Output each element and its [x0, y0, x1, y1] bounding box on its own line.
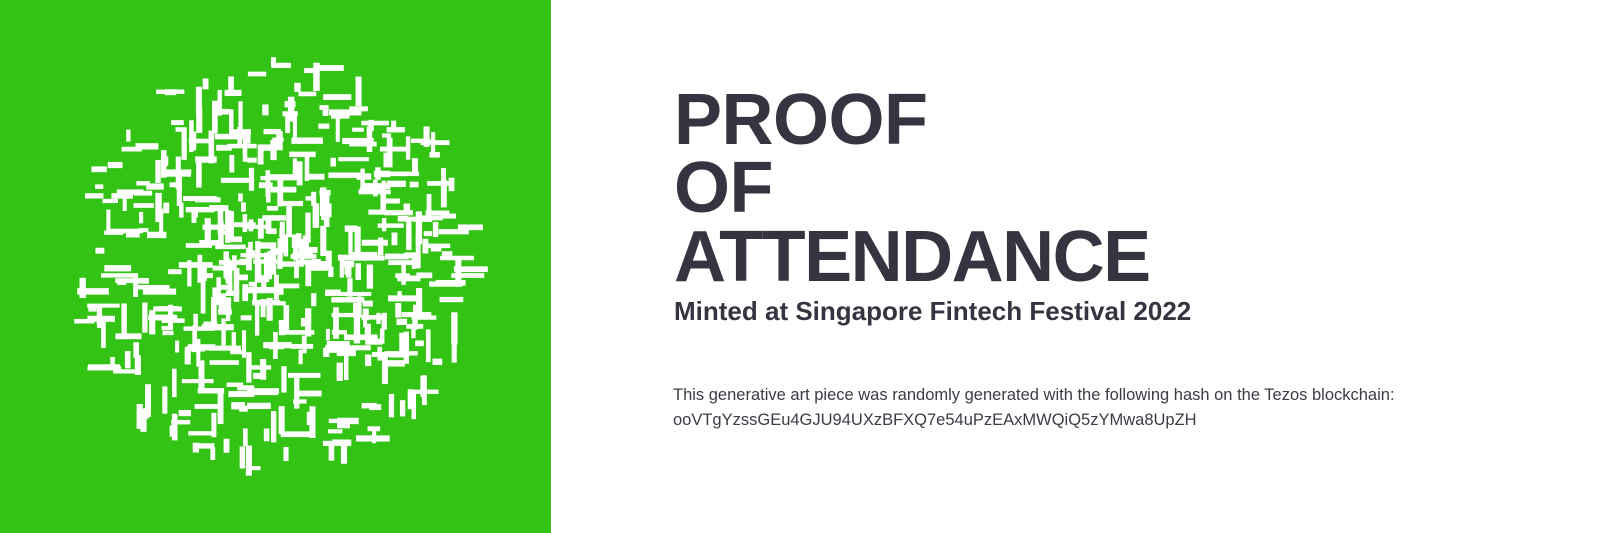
title-line-of: OF [674, 154, 1494, 222]
title-line-proof: PROOF [674, 86, 1494, 154]
proof-of-attendance-certificate: PROOF OF ATTENDANCE Minted at Singapore … [0, 0, 1600, 533]
certificate-subtitle: Minted at Singapore Fintech Festival 202… [674, 296, 1191, 327]
generative-art-canvas [0, 0, 551, 533]
title-line-attendance: ATTENDANCE [674, 223, 1494, 291]
certificate-hash-text: ooVTgYzssGEu4GJU94UXzBFXQ7e54uPzEAxMWQiQ… [673, 408, 1573, 433]
certificate-description-text: This generative art piece was randomly g… [673, 383, 1573, 408]
certificate-info-panel: PROOF OF ATTENDANCE Minted at Singapore … [551, 0, 1600, 533]
certificate-title: PROOF OF ATTENDANCE [674, 86, 1494, 291]
certificate-description-block: This generative art piece was randomly g… [673, 383, 1573, 433]
artwork-panel [0, 0, 551, 533]
